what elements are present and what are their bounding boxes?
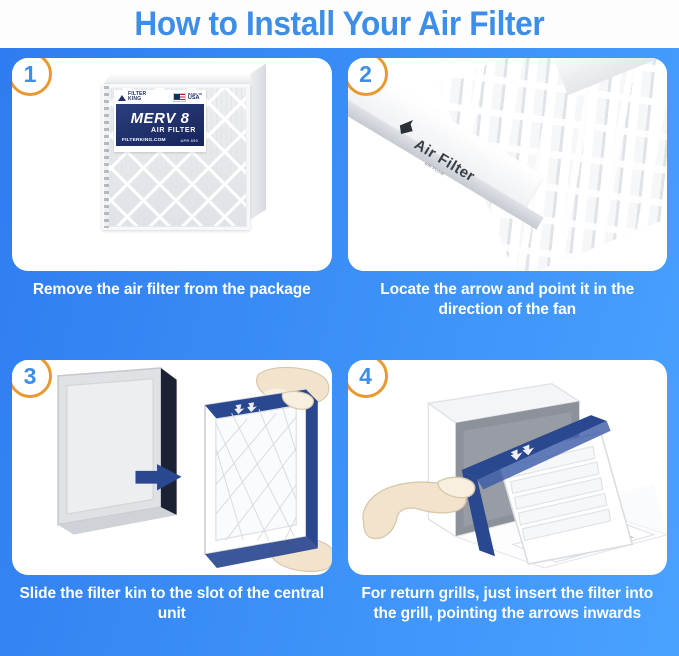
step-badge-1: 1	[12, 58, 52, 96]
slide-filter-into-slot-illustration	[12, 360, 332, 575]
step-3-image-card: 3	[12, 360, 332, 575]
title-band: How to Install Your Air Filter	[0, 0, 679, 48]
air-filter-product-photo: FILTER KING MADE IN USA	[90, 70, 270, 242]
apr-rating: APR 650	[180, 138, 198, 143]
step-caption-4: For return grills, just insert the filte…	[348, 584, 668, 625]
made-in-usa-badge: MADE IN USA	[173, 93, 202, 102]
air-filter-subtitle: AIR FILTER	[151, 127, 196, 134]
step-number-3: 3	[24, 365, 37, 388]
step-1-image-card: FILTER KING MADE IN USA	[12, 58, 332, 271]
filter-king-logo: FILTER KING	[118, 92, 146, 103]
filter-corner-arrow-photo: Air Filter AIR FLOW	[348, 58, 668, 271]
step-caption-3: Slide the filter kin to the slot of the …	[12, 584, 332, 625]
label-footer: FILTERKING.COM APR 650	[119, 136, 201, 145]
page-title: How to Install Your Air Filter	[135, 7, 545, 41]
step-card-2: Air Filter AIR FLOW 2 Locate the arrow a…	[348, 58, 668, 354]
step-card-4: 4 For return grills, just insert the fil…	[348, 360, 668, 650]
label-header: FILTER KING MADE IN USA	[114, 90, 206, 104]
step-2-image-card: Air Filter AIR FLOW 2	[348, 58, 668, 271]
country-label: USA	[188, 95, 200, 101]
merv-rating: MERV 8	[116, 111, 204, 126]
crown-icon	[118, 94, 126, 101]
infographic-root: How to Install Your Air Filter	[0, 0, 679, 656]
step-caption-1: Remove the air filter from the package	[12, 280, 332, 300]
brand-name: FILTER KING	[128, 92, 146, 103]
website-text: FILTERKING.COM	[122, 138, 166, 143]
return-grill-insert-illustration	[348, 360, 668, 575]
step-number-1: 1	[24, 63, 37, 86]
central-unit	[58, 368, 177, 535]
air-filter-panel	[205, 390, 318, 568]
made-in-usa-text: MADE IN USA	[188, 93, 202, 102]
filter-product-label: FILTER KING MADE IN USA	[114, 90, 206, 152]
steps-grid: FILTER KING MADE IN USA	[0, 48, 679, 656]
brand-line-2: KING	[128, 97, 146, 102]
step-card-1: FILTER KING MADE IN USA	[12, 58, 332, 354]
step-number-2: 2	[359, 63, 372, 86]
us-flag-icon	[173, 93, 186, 102]
step-number-4: 4	[359, 365, 372, 388]
step-card-3: 3 Slide the filter kin to the slot of th…	[12, 360, 332, 650]
step-4-image-card: 4	[348, 360, 668, 575]
filter-side-edge	[250, 64, 266, 220]
filter-pleat-edge	[104, 86, 109, 228]
label-navy-block: MERV 8 AIR FILTER FILTERKING.COM APR 650	[116, 104, 204, 146]
step-caption-2: Locate the arrow and point it in the dir…	[348, 280, 668, 321]
